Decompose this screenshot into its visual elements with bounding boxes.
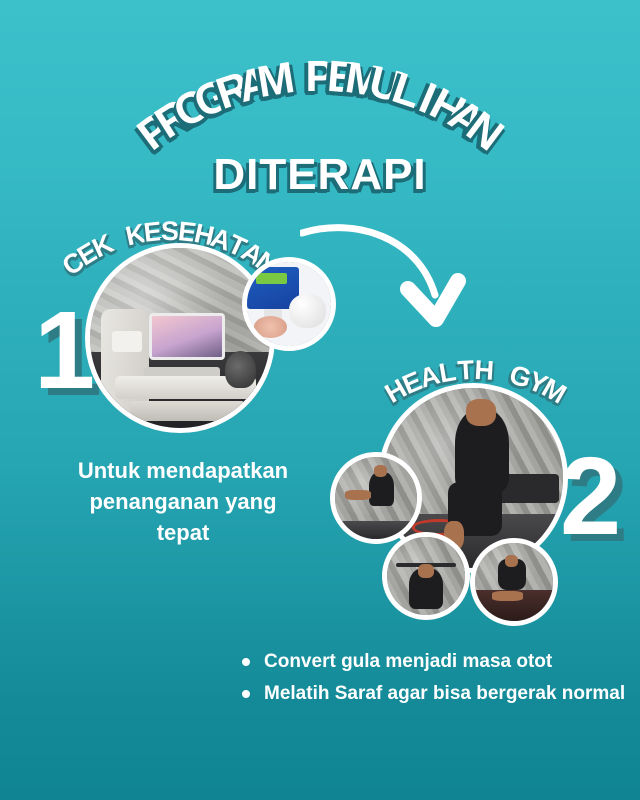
list-item: Melatih Saraf agar bisa bergerak normal <box>238 680 630 708</box>
list-item: Convert gula menjadi masa otot <box>238 648 630 676</box>
step-2-number: 2 <box>560 442 619 552</box>
step-1-caption-line-3: tepat <box>38 517 328 548</box>
title-line-2: DITERAPI <box>0 150 640 200</box>
poster-canvas: PROGRAM PEMULIHAN DITERAPI CEK KESEHATAN… <box>0 0 640 800</box>
booth-logo <box>112 331 143 353</box>
step-1-caption-line-2: penanganan yang <box>38 486 328 517</box>
step-1-caption: Untuk mendapatkan penanganan yang tepat <box>38 455 328 549</box>
photo-gym-pullup <box>382 532 470 620</box>
page-title: PROGRAM PEMULIHAN DITERAPI <box>0 52 640 172</box>
step-2-bullet-list: Convert gula menjadi masa otot Melatih S… <box>238 648 630 711</box>
photo-gym-stretch <box>330 452 422 544</box>
step-1-caption-line-1: Untuk mendapatkan <box>38 455 328 486</box>
photo-gym-floor <box>470 538 558 626</box>
photo-medical-devices <box>242 257 336 351</box>
title-line-1: PROGRAM PEMULIHAN <box>0 52 640 122</box>
step-1-number: 1 <box>34 296 93 406</box>
